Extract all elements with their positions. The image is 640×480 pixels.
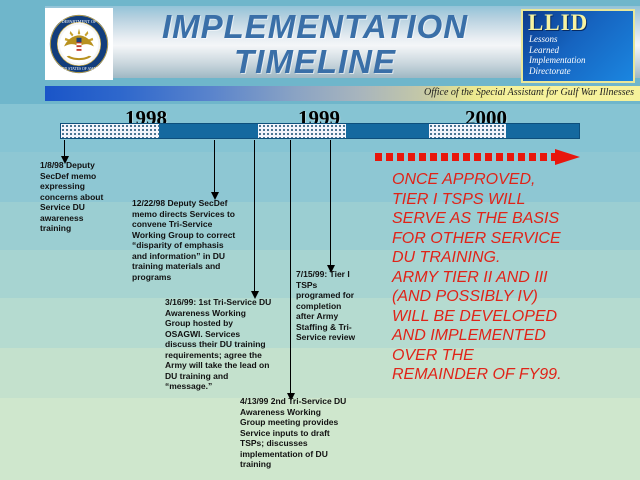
projection-line-7: (AND POSSIBLY IV) [392,287,640,307]
projection-line-5: DU TRAINING. [392,248,640,268]
arrow-dashes [375,153,555,161]
llid-line-3: Implementation [523,55,633,66]
timeline-segment-5 [429,124,507,138]
callout-3-16-99: 3/16/99: 1st Tri-Service DU Awareness Wo… [165,297,273,392]
callout-4-13-99-leader [290,140,291,394]
llid-logo: LLID Lessons Learned Implementation Dire… [521,9,635,83]
callout-3-16-99-leader [254,140,255,292]
llid-line-4: Directorate [523,66,633,77]
title-line-2: TIMELINE [234,45,396,78]
timeline-segment-3 [258,124,346,138]
dod-seal-icon: DEPARTMENT OF UNITED STATES OF AMERICA [48,10,110,78]
dod-seal: DEPARTMENT OF UNITED STATES OF AMERICA [45,8,113,80]
projection-line-2: TIER I TSPS WILL [392,190,640,210]
arrow-head [555,149,580,165]
svg-text:UNITED STATES OF AMERICA: UNITED STATES OF AMERICA [53,67,105,71]
callout-4-13-99: 4/13/99 2nd Tri-Service DU Awareness Wor… [240,396,348,470]
projection-line-1: ONCE APPROVED, [392,170,640,190]
timeline-bar [60,123,580,139]
llid-acronym: LLID [523,11,633,34]
callout-7-15-99-leader [330,140,331,266]
projection-line-11: REMAINDER OF FY99. [392,365,640,385]
callout-1-8-98-leader [64,140,65,157]
projection-line-8: WILL BE DEVELOPED [392,307,640,327]
llid-line-2: Learned [523,45,633,56]
callout-7-15-99: 7/15/99: Tier I TSPs programed for compl… [296,269,358,343]
projection-line-10: OVER THE [392,346,640,366]
callout-1-8-98: 1/8/98 Deputy SecDef memo expressing con… [40,160,112,234]
timeline-segment-4 [346,124,429,138]
projection-line-4: FOR OTHER SERVICE [392,229,640,249]
page-title: IMPLEMENTATION TIMELINE [120,8,510,80]
timeline-segment-1 [61,124,159,138]
projection-line-3: SERVE AS THE BASIS [392,209,640,229]
subtitle-banner: Office of the Special Assistant for Gulf… [45,86,640,101]
timeline-segment-2 [159,124,257,138]
dashed-right-arrow-icon [375,150,580,164]
timeline-segment-6 [506,124,579,138]
projection-line-9: AND IMPLEMENTED [392,326,640,346]
svg-text:DEPARTMENT OF: DEPARTMENT OF [62,19,98,24]
llid-line-1: Lessons [523,34,633,45]
projection-text: ONCE APPROVED,TIER I TSPS WILLSERVE AS T… [392,170,640,385]
projection-line-6: ARMY TIER II AND III [392,268,640,288]
callout-12-22-98: 12/22/98 Deputy SecDef memo directs Serv… [132,198,240,282]
title-line-1: IMPLEMENTATION [162,10,468,43]
slide-canvas: DEPARTMENT OF UNITED STATES OF AMERICA I… [0,0,640,480]
callout-12-22-98-leader [214,140,215,193]
banner-text: Office of the Special Assistant for Gulf… [424,87,634,98]
